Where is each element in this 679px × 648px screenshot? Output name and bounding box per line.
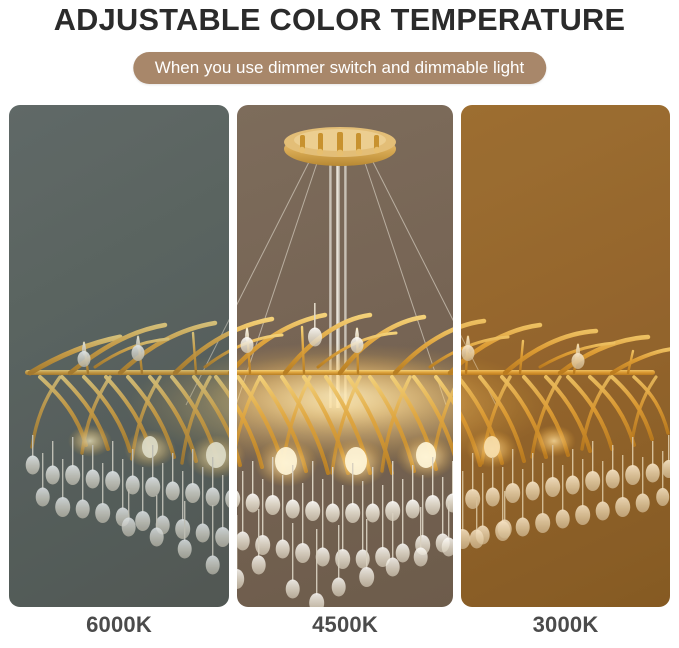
page-title: ADJUSTABLE COLOR TEMPERATURE	[3, 2, 675, 38]
subtitle-badge: When you use dimmer switch and dimmable …	[133, 52, 546, 84]
label-4500k: 4500K	[237, 612, 453, 638]
panel-3000k[interactable]	[461, 105, 670, 607]
screen-overlay-3000k	[461, 105, 670, 607]
screen-overlay-6000k	[9, 105, 229, 607]
subtitle-text: When you use dimmer switch and dimmable …	[155, 58, 524, 78]
label-3000k: 3000K	[461, 612, 670, 638]
panel-4500k[interactable]	[237, 105, 453, 607]
header-block: ADJUSTABLE COLOR TEMPERATURE When you us…	[0, 0, 679, 100]
temperature-labels: 6000K 4500K 3000K	[0, 612, 679, 648]
panel-6000k[interactable]	[9, 105, 229, 607]
color-temperature-panels	[0, 105, 679, 607]
label-6000k: 6000K	[9, 612, 229, 638]
tint-overlay-4500k	[237, 105, 453, 607]
